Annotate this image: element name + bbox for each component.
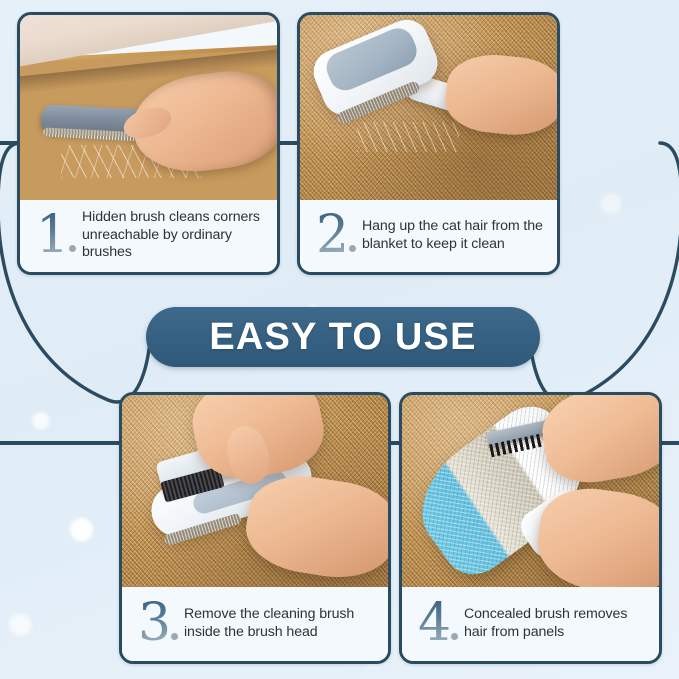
pet-hair-strands [357,122,460,152]
step-number: 3 [138,600,170,648]
easy-to-use-infographic: 1 Hidden brush cleans corners unreachabl… [0,0,679,679]
step-4-number-wrap: 4 [408,600,460,648]
step-3-photo [122,395,388,587]
step-number: 2 [316,212,348,260]
step-card-3[interactable]: 3 Remove the cleaning brush inside the b… [119,392,391,664]
step-4-photo [402,395,659,587]
step-3-caption: 3 Remove the cleaning brush inside the b… [122,587,388,661]
step-number-dot [349,245,356,252]
step-2-caption: 2 Hang up the cat hair from the blanket … [300,200,557,272]
step-3-number-wrap: 3 [128,600,180,648]
banner-label: EASY TO USE [209,316,476,359]
step-4-caption: 4 Concealed brush removes hair from pane… [402,587,659,661]
step-caption-text: Remove the cleaning brush inside the bru… [184,606,380,642]
step-number: 4 [418,600,450,648]
step-1-caption: 1 Hidden brush cleans corners unreachabl… [20,200,277,272]
step-1-photo [20,15,277,200]
step-caption-text: Hang up the cat hair from the blanket to… [362,218,549,254]
step-card-2[interactable]: 2 Hang up the cat hair from the blanket … [297,12,560,275]
step-1-number-wrap: 1 [26,212,78,260]
easy-to-use-banner: EASY TO USE [146,307,540,367]
step-2-number-wrap: 2 [306,212,358,260]
step-number-dot [171,633,178,640]
step-2-photo [300,15,557,200]
step-caption-text: Hidden brush cleans corners unreachable … [82,209,269,263]
step-number-dot [69,245,76,252]
step-card-4[interactable]: 4 Concealed brush removes hair from pane… [399,392,662,664]
step-number-dot [451,633,458,640]
step-card-1[interactable]: 1 Hidden brush cleans corners unreachabl… [17,12,280,275]
step-number: 1 [36,212,68,260]
step-caption-text: Concealed brush removes hair from panels [464,606,651,642]
